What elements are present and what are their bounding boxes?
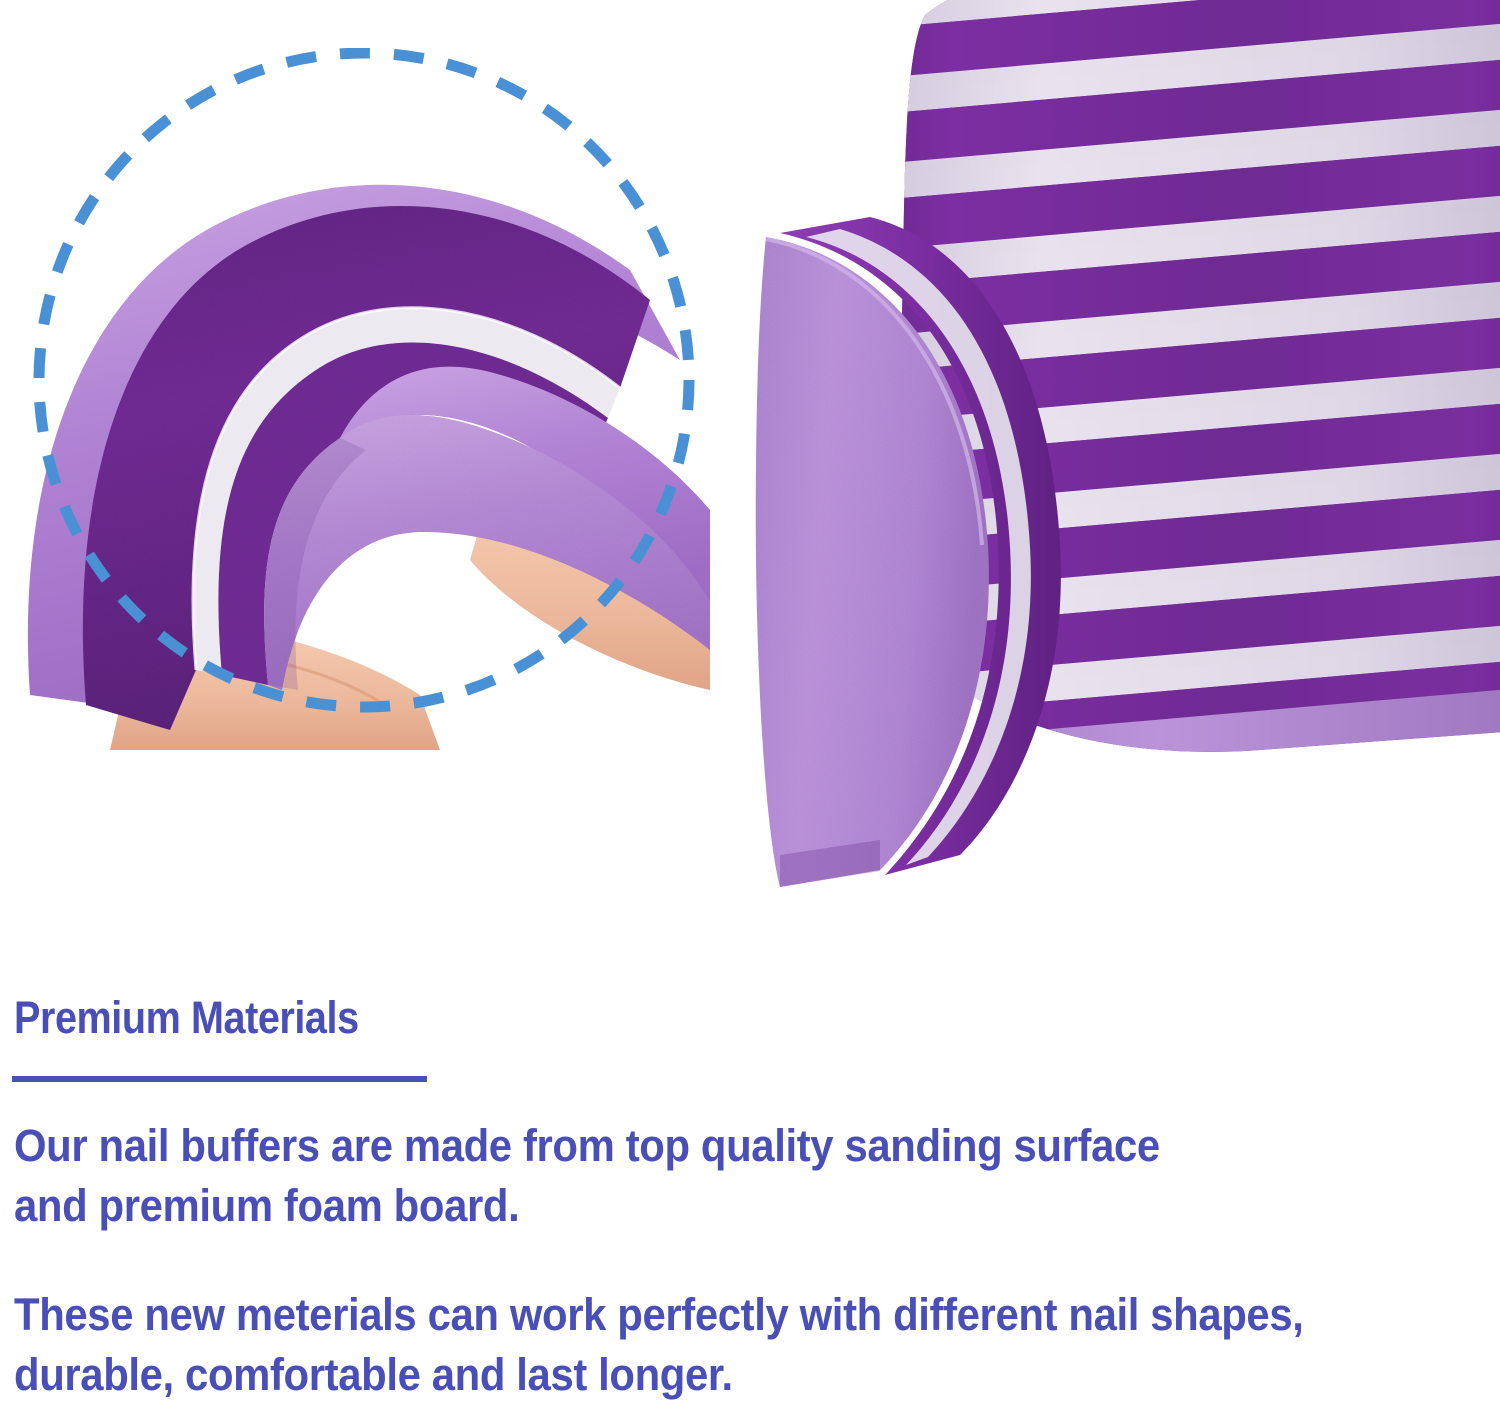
standing-buffer-image — [720, 215, 1140, 915]
paragraph-2-line-1: These new meterials can work perfectly w… — [14, 1285, 1500, 1345]
section-heading-underline — [12, 1076, 427, 1082]
paragraph-1-line-1: Our nail buffers are made from top quali… — [14, 1116, 1500, 1176]
paragraph-2-line-2: durable, comfortable and last longer. — [14, 1345, 1500, 1405]
product-infographic-page: Premium Materials Our nail buffers are m… — [0, 0, 1500, 1415]
paragraph-1-line-2: and premium foam board. — [14, 1176, 1500, 1236]
description-text-block: Premium Materials Our nail buffers are m… — [0, 960, 1500, 1415]
bent-buffer-image — [20, 150, 720, 750]
section-heading: Premium Materials — [14, 992, 359, 1044]
paragraph-1: Our nail buffers are made from top quali… — [14, 1116, 1500, 1236]
paragraph-2: These new meterials can work perfectly w… — [14, 1285, 1500, 1405]
product-photo-area — [0, 0, 1500, 960]
